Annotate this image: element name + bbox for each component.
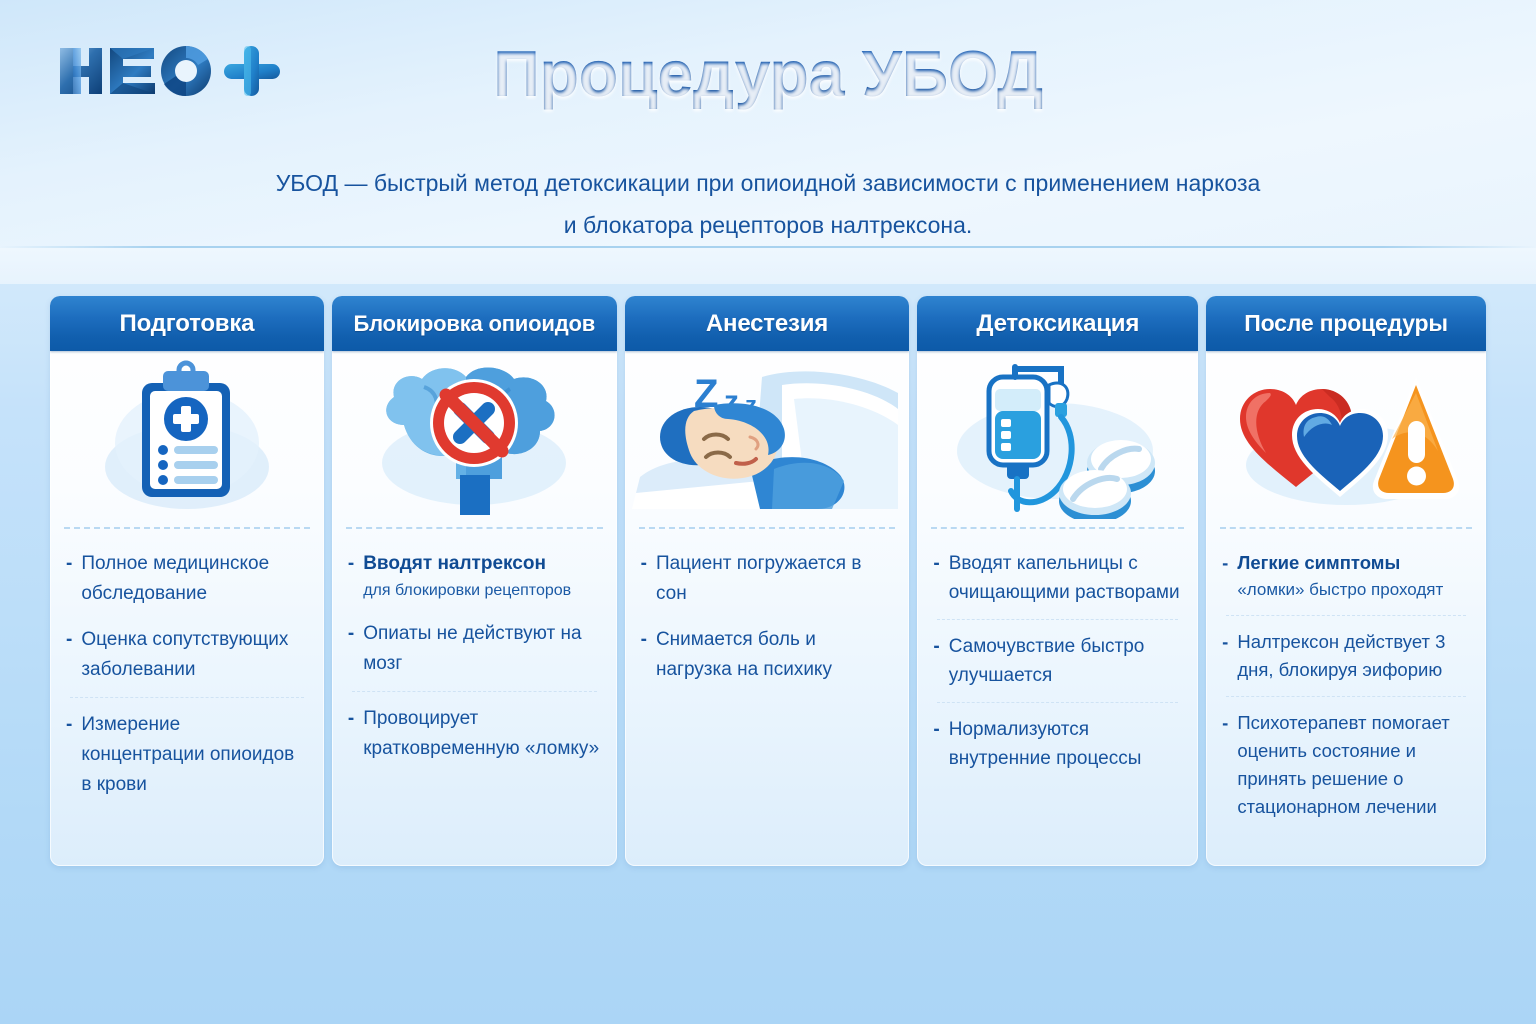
step-card-after-procedure[interactable]: После процедуры - Л [1206,296,1486,866]
bullet-dash: - [933,632,939,690]
bullet-text: Вводят капельницы с очищающими растворам… [949,549,1182,607]
list-item: - Опиаты не действуют на мозг [348,619,601,681]
step-card-opioid-blocking[interactable]: Блокировка опиоидов - [332,296,617,866]
icon-zone-opioid-blocking [332,351,617,527]
bullet-dash: - [1222,628,1228,684]
card-body-anesthesia: - Пациент погружается в сон - Снимается … [625,529,910,866]
step-card-detoxification[interactable]: Детоксикация [917,296,1198,866]
list-item: - Снимается боль и нагрузка на психику [641,625,894,687]
page-title: Процедура УБОД [0,36,1536,111]
list-item: - Вводят капельницы с очищающими раствор… [933,549,1182,609]
step-card-anesthesia[interactable]: Анестезия Z z z [625,296,910,866]
bullet-text: Опиаты не действуют на мозг [363,619,600,679]
card-body-after-procedure: - Легкие симптомы «ломки» быстро проходя… [1206,529,1486,866]
card-header-preparation: Подготовка [50,296,324,351]
subtitle-line-2: и блокатора рецепторов налтрексона. [0,204,1536,246]
bullet-dash: - [641,625,647,685]
bullet-text: Оценка сопутствующих заболевании [81,625,308,685]
bullet-dash: - [641,549,647,609]
list-item: - Измерение концентрации опиоидов в кров… [66,710,308,802]
bullet-text: Психотерапевт помогает оценить состояние… [1237,709,1470,821]
bullet-text: Самочувствие быстро улучшается [949,632,1182,690]
bullet-dash: - [933,715,939,773]
bullet-text: Снимается боль и нагрузка на психику [656,625,893,685]
list-item: - Налтрексон действует 3 дня, блокируя э… [1222,628,1470,686]
bullet-text-strong: Вводят налтрексон [363,553,546,574]
list-item: - Оценка сопутствующих заболевании [66,625,308,687]
card-body-opioid-blocking: - Вводят налтрексон для блокировки рецеп… [332,529,617,866]
bullet-text: Легкие симптомы «ломки» быстро проходят [1237,549,1470,603]
list-item: - Самочувствие быстро улучшается [933,632,1182,692]
bullet-text: Пациент погружается в сон [656,549,893,609]
item-divider [70,697,304,698]
page-subtitle: УБОД — быстрый метод детоксикации при оп… [0,162,1536,246]
list-item: - Вводят налтрексон для блокировки рецеп… [348,549,601,605]
card-title: Подготовка [120,310,255,338]
bullet-text: Налтрексон действует 3 дня, блокируя эиф… [1237,628,1470,684]
card-title: Анестезия [706,310,828,338]
card-body-preparation: - Полное медицинское обследование - Оцен… [50,529,324,866]
bullet-subtext: для блокировки рецепторов [363,579,600,603]
bullet-dash: - [348,619,354,679]
item-divider [1226,696,1466,697]
icon-zone-anesthesia: Z z z [625,351,910,527]
bullet-text: Полное медицинское обследование [81,549,308,609]
list-item: - Легкие симптомы «ломки» быстро проходя… [1222,549,1470,605]
item-divider [937,702,1178,703]
card-body-detoxification: - Вводят капельницы с очищающими раствор… [917,529,1198,866]
iv-drip-pills-icon [943,359,1173,519]
list-item: - Нормализуются внутренние процессы [933,715,1182,775]
card-header-anesthesia: Анестезия [625,296,910,351]
bullet-dash: - [348,549,354,603]
step-card-preparation[interactable]: Подготовка [50,296,324,866]
item-divider [1226,615,1466,616]
card-header-detoxification: Детоксикация [917,296,1198,351]
list-item: - Полное медицинское обследование [66,549,308,611]
item-divider [937,619,1178,620]
icon-zone-detoxification [917,351,1198,527]
bullet-dash: - [933,549,939,607]
bullet-dash: - [348,704,354,764]
card-title: Блокировка опиоидов [353,311,595,337]
sleeping-patient-icon: Z z z [632,359,902,519]
item-divider [352,691,597,692]
list-item: - Провоцирует кратковременную «ломку» [348,704,601,766]
hearts-warning-icon [1226,359,1466,519]
bullet-dash: - [1222,549,1228,603]
list-item: - Психотерапевт помогает оценить состоян… [1222,709,1470,823]
bullet-text: Нормализуются внутренние процессы [949,715,1182,773]
steps-row: Подготовка [50,296,1486,866]
icon-zone-after-procedure [1206,351,1486,527]
bullet-text: Измерение концентрации опиоидов в крови [81,710,308,800]
card-title: После процедуры [1244,310,1448,337]
list-item: - Пациент погружается в сон [641,549,894,611]
brain-blocked-icon [364,359,584,519]
bullet-dash: - [66,625,72,685]
clipboard-medical-icon [87,359,287,519]
bullet-text-strong: Легкие симптомы [1237,552,1400,573]
bullet-dash: - [66,710,72,800]
subheader-band [0,248,1536,284]
card-header-opioid-blocking: Блокировка опиоидов [332,296,617,351]
bullet-subtext: «ломки» быстро проходят [1237,577,1470,603]
bullet-dash: - [1222,709,1228,821]
card-title: Детоксикация [976,310,1139,338]
bullet-dash: - [66,549,72,609]
subtitle-line-1: УБОД — быстрый метод детоксикации при оп… [0,162,1536,204]
icon-zone-preparation [50,351,324,527]
card-header-after-procedure: После процедуры [1206,296,1486,351]
bullet-text: Вводят налтрексон для блокировки рецепто… [363,549,600,603]
page-header: Процедура УБОД УБОД — быстрый метод дето… [0,0,1536,248]
bullet-text: Провоцирует кратковременную «ломку» [363,704,600,764]
